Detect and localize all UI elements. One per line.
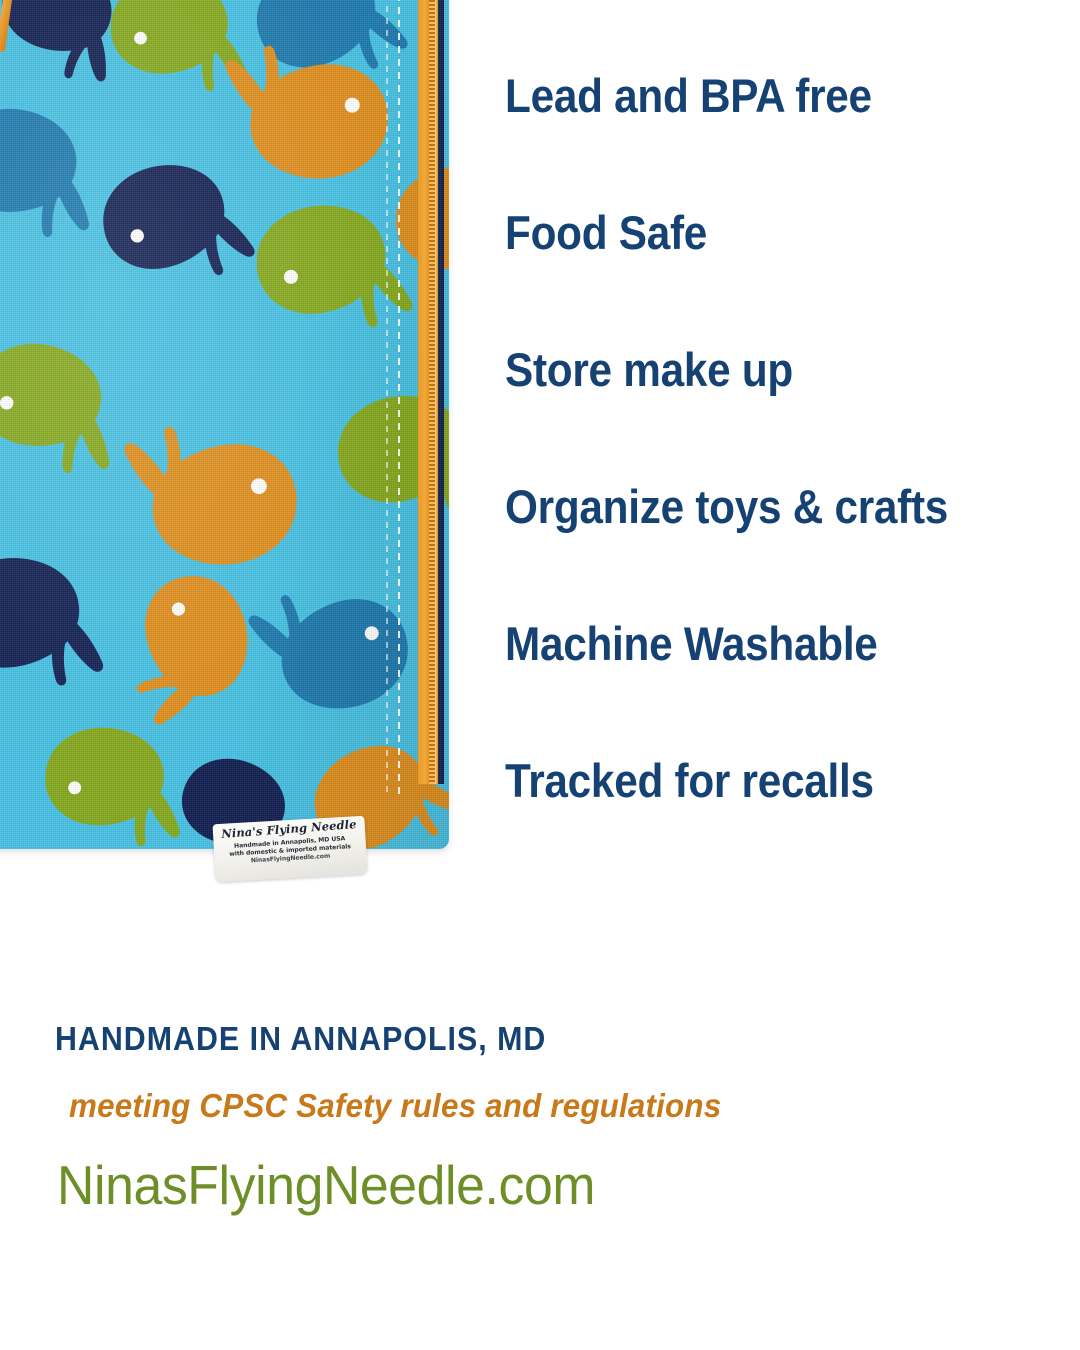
footer-subtitle: meeting CPSC Safety rules and regulation… bbox=[69, 1089, 968, 1122]
topstitch-seam bbox=[398, 0, 400, 794]
footer-block: HANDMADE IN ANNAPOLIS, MD meeting CPSC S… bbox=[55, 1022, 1015, 1213]
feature-item-food-safe: Food Safe bbox=[505, 209, 996, 256]
feature-item-lead-bpa-free: Lead and BPA free bbox=[505, 72, 996, 119]
feature-item-machine-washable: Machine Washable bbox=[505, 620, 996, 667]
zipper-edge-highlight bbox=[435, 0, 438, 784]
zipper-pouch bbox=[0, 0, 449, 849]
zipper[interactable] bbox=[418, 0, 444, 784]
feature-item-store-make-up: Store make up bbox=[505, 346, 996, 393]
poster-canvas: Nina's Flying Needle Handmade in Annapol… bbox=[0, 0, 1080, 1350]
feature-item-tracked-recalls: Tracked for recalls bbox=[505, 757, 996, 804]
feature-list: Lead and BPA free Food Safe Store make u… bbox=[505, 72, 1050, 804]
inner-topstitch bbox=[386, 0, 388, 794]
feature-item-organize-toys: Organize toys & crafts bbox=[505, 483, 996, 530]
product-photo: Nina's Flying Needle Handmade in Annapol… bbox=[0, 0, 470, 900]
care-label-tag: Nina's Flying Needle Handmade in Annapol… bbox=[212, 816, 367, 882]
footer-headline: HANDMADE IN ANNAPOLIS, MD bbox=[55, 1022, 938, 1055]
footer-website-url[interactable]: NinasFlyingNeedle.com bbox=[57, 1158, 958, 1213]
